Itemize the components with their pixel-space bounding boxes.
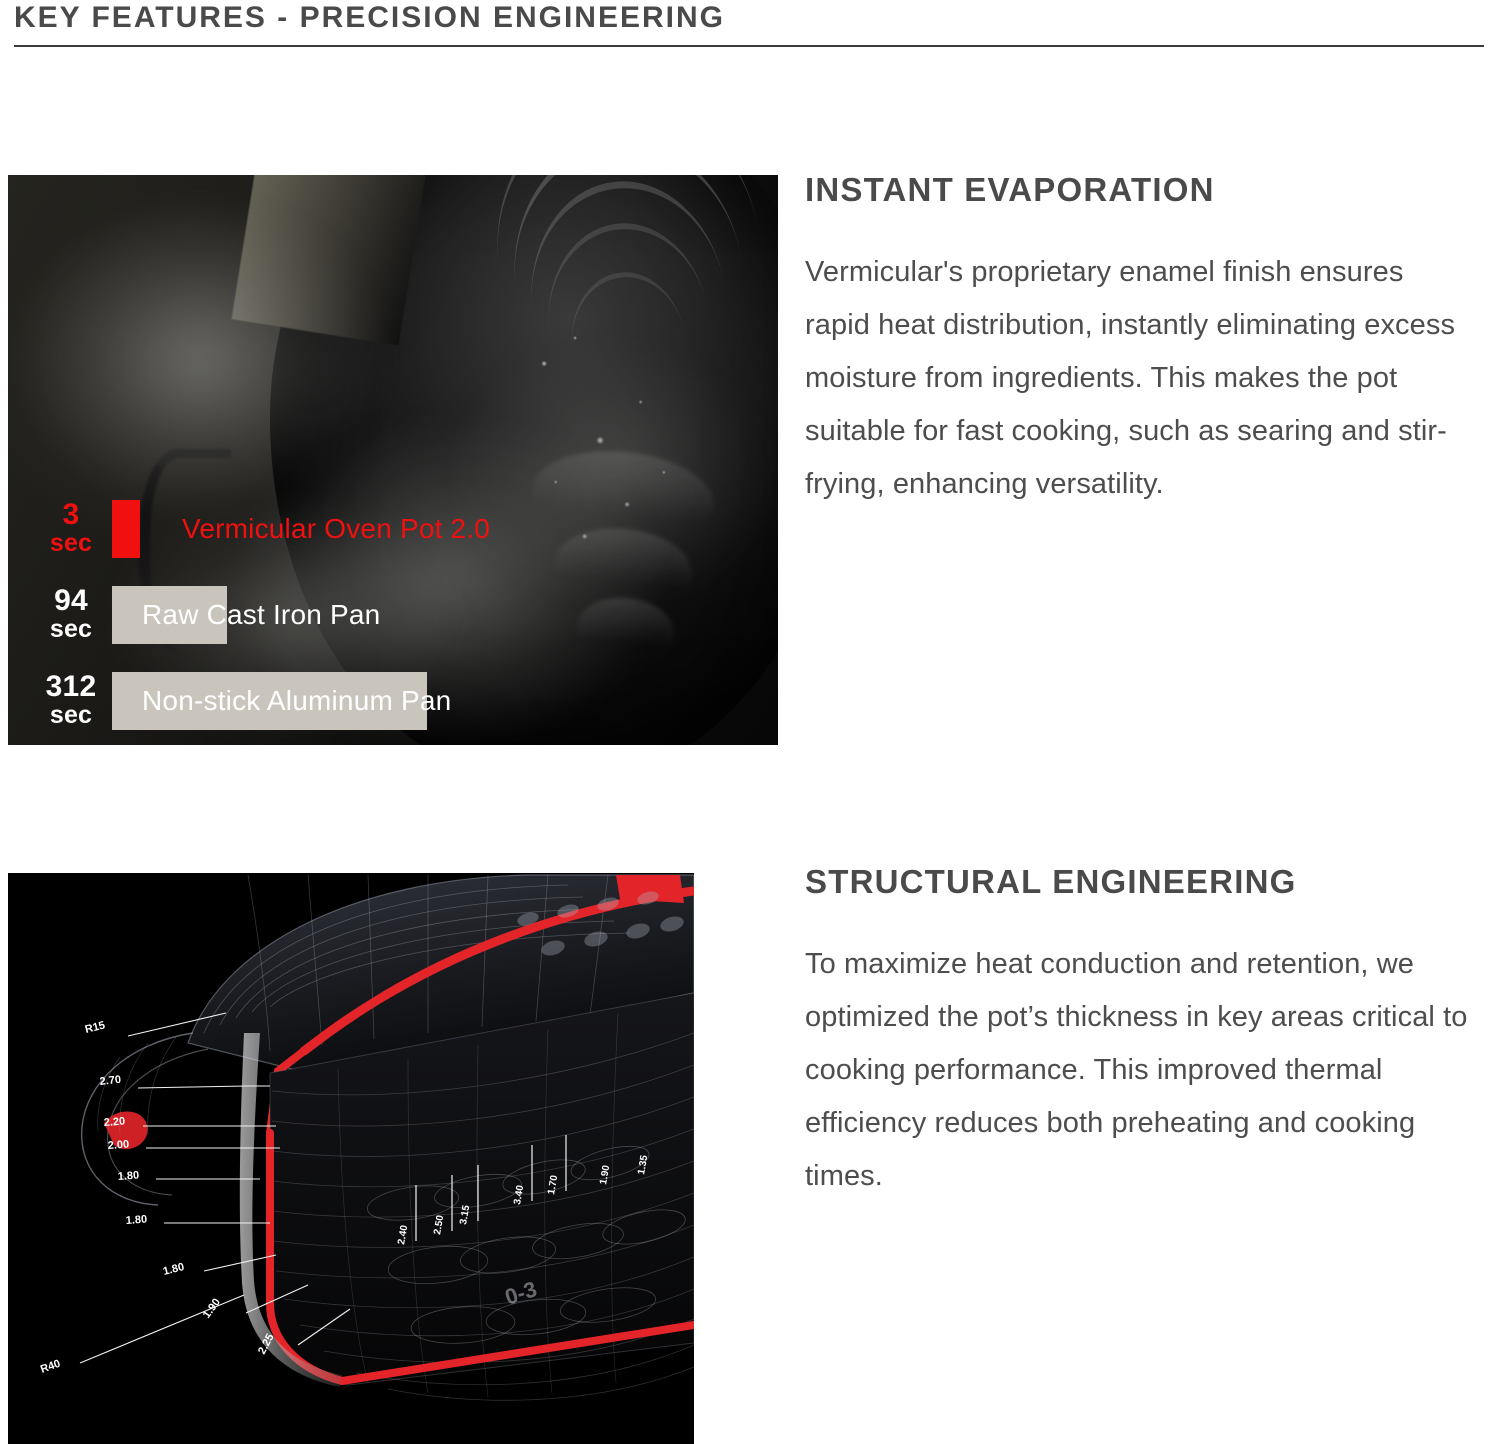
section-structural-engineering: R15 2.70 2.20 2.00 1.80 1.80 1.80 1.90 2…	[0, 0, 1500, 1444]
svg-text:2.70: 2.70	[99, 1074, 122, 1088]
svg-text:1.80: 1.80	[125, 1214, 147, 1227]
svg-text:2.20: 2.20	[103, 1116, 125, 1129]
section-title: STRUCTURAL ENGINEERING	[805, 862, 1485, 902]
structural-engineering-text: STRUCTURAL ENGINEERING To maximize heat …	[805, 862, 1485, 1203]
svg-text:1.80: 1.80	[117, 1170, 139, 1183]
structural-engineering-cad-image: R15 2.70 2.20 2.00 1.80 1.80 1.80 1.90 2…	[8, 873, 694, 1444]
svg-text:2.00: 2.00	[107, 1139, 129, 1152]
cad-wireframe: R15 2.70 2.20 2.00 1.80 1.80 1.80 1.90 2…	[8, 873, 694, 1444]
section-body: To maximize heat conduction and retentio…	[805, 938, 1485, 1203]
page-root: KEY FEATURES - PRECISION ENGINEERING	[0, 0, 1500, 1444]
cad-wireframe-svg: R15 2.70 2.20 2.00 1.80 1.80 1.80 1.90 2…	[8, 873, 694, 1444]
